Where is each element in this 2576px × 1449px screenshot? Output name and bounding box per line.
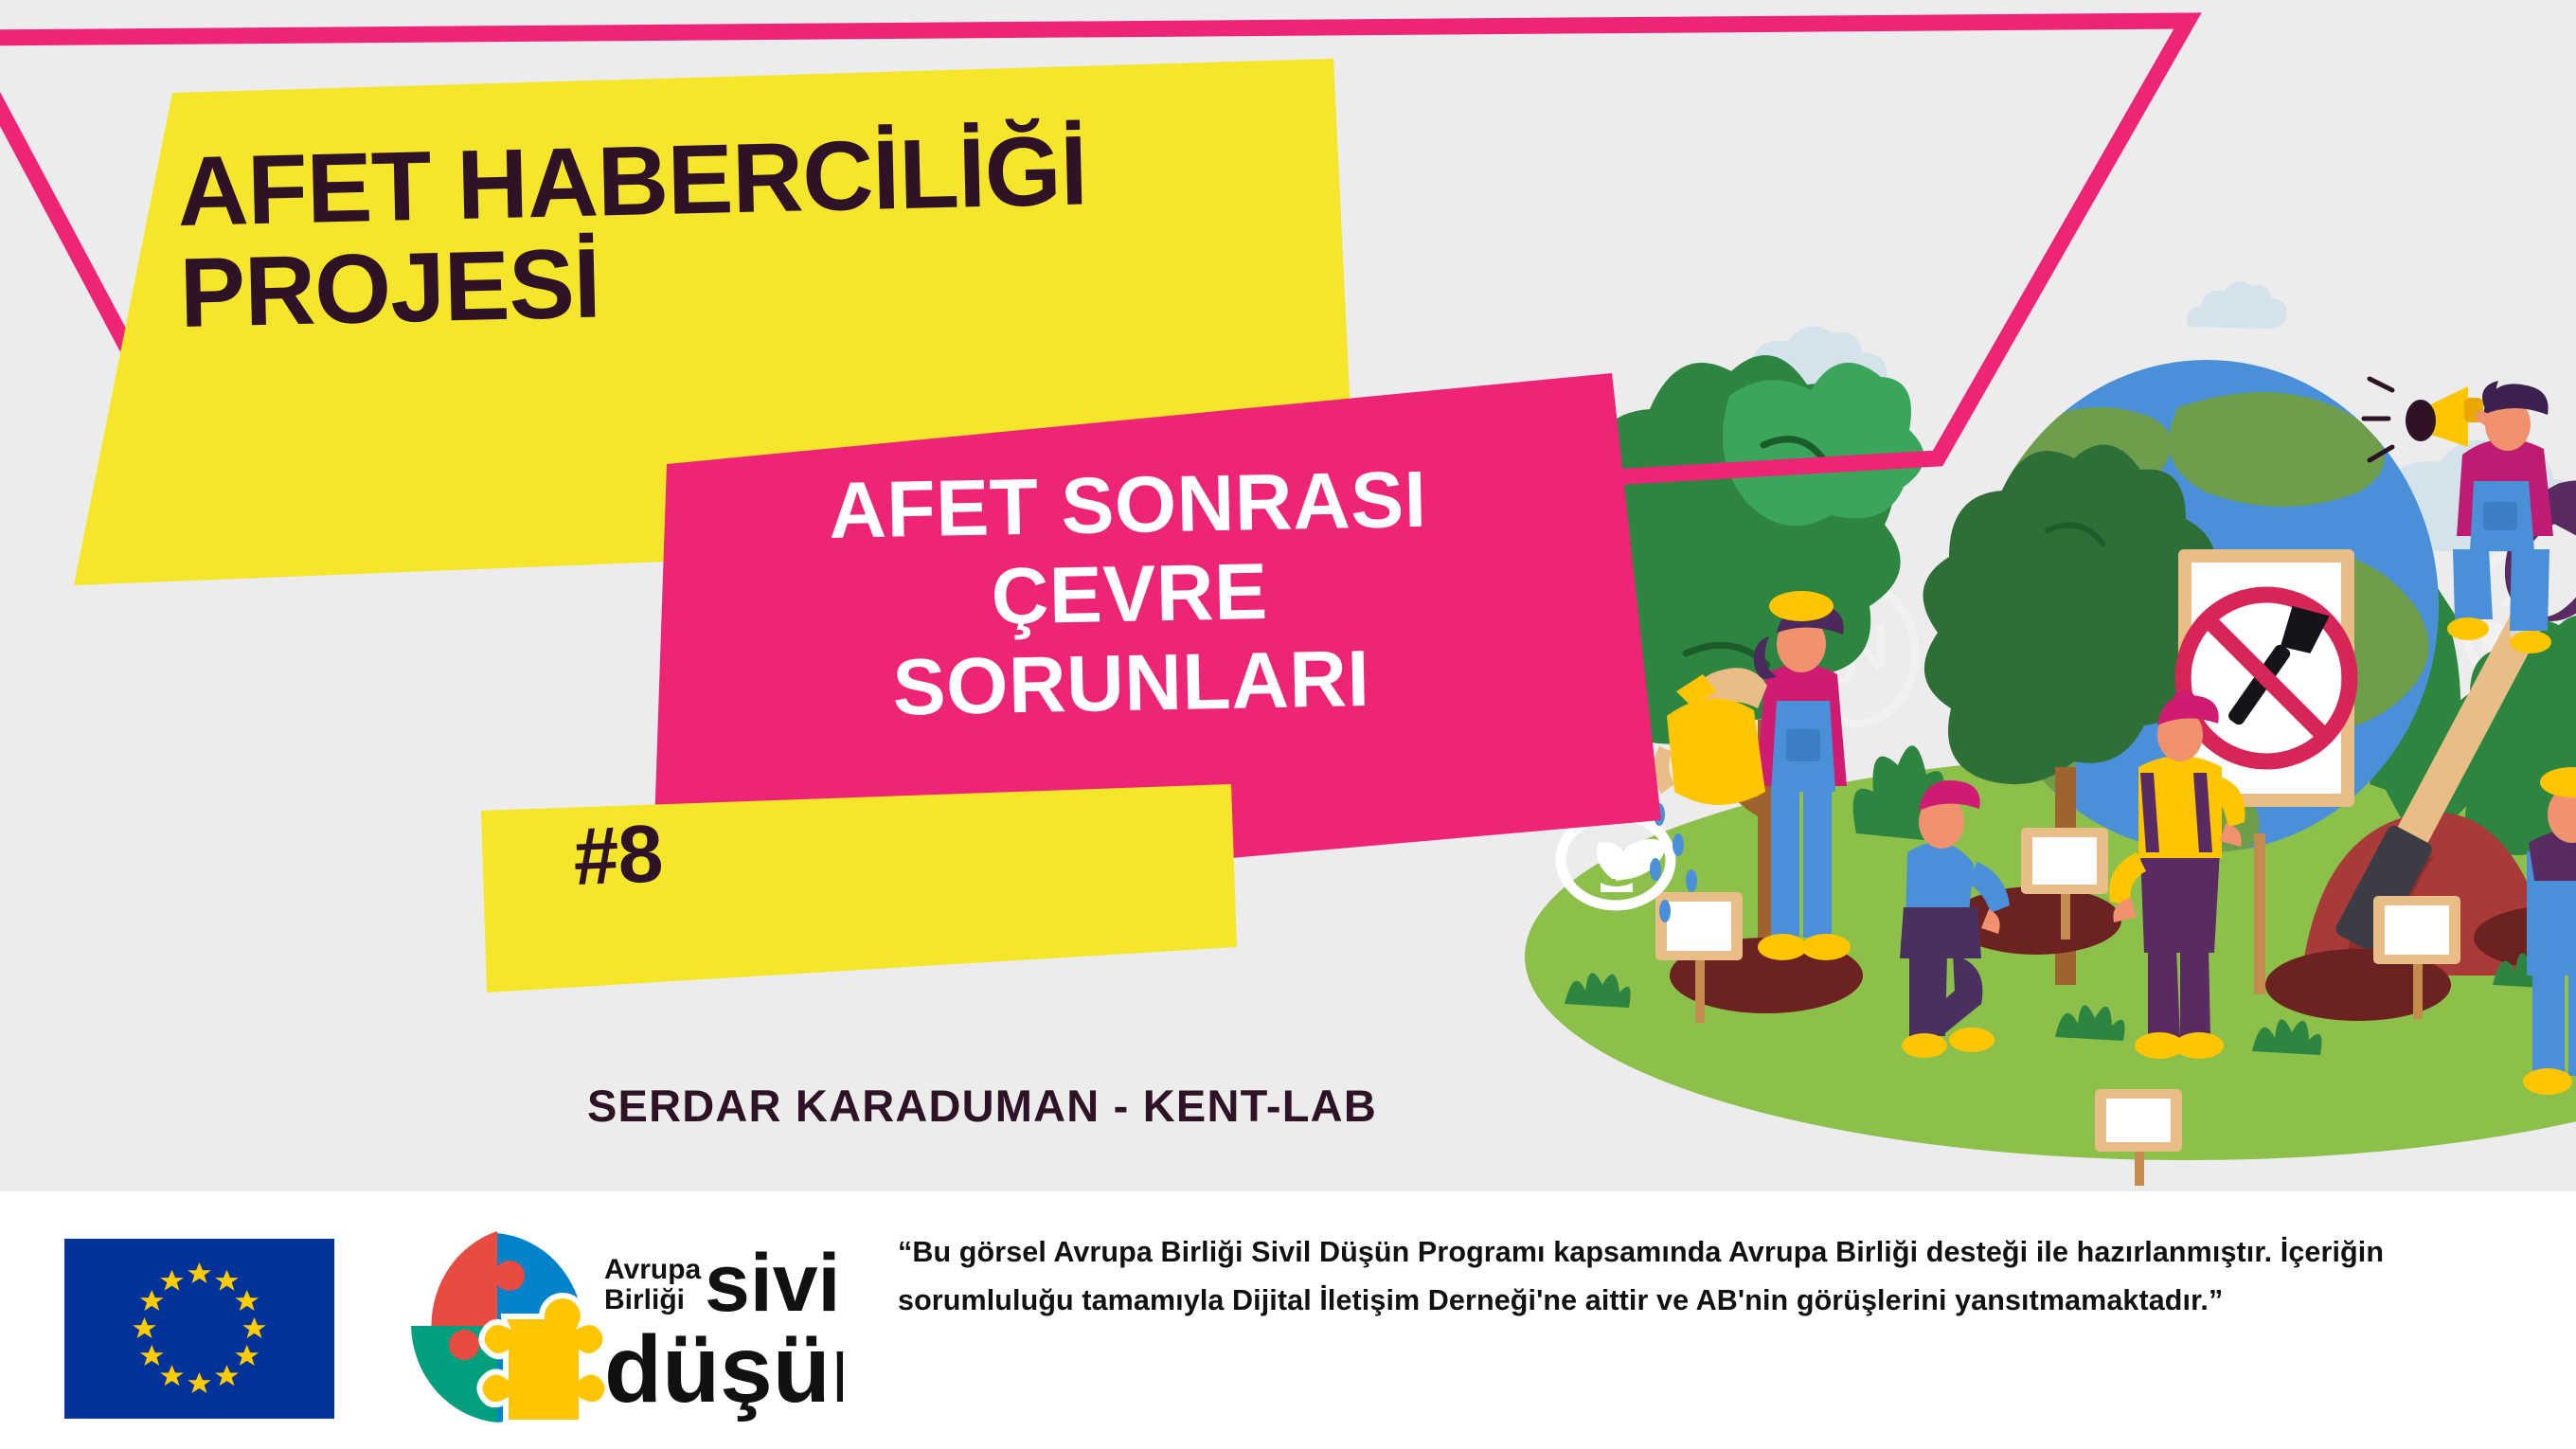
sivil-dusun-logo: Avrupa Birliği sivil düşün [398,1224,843,1427]
logo-birligi-label: Birliği [604,1284,685,1315]
eu-disclaimer-text: “Bu görsel Avrupa Birliği Sivil Düşün Pr… [898,1228,2527,1324]
puzzle-icon [411,1231,608,1422]
european-union-flag [64,1239,334,1419]
logo-avrupa-label: Avrupa [604,1254,702,1285]
page-title: AFET HABERCİLİĞİ PROJESİ [176,116,1298,345]
hero-section: UV O₂ [0,0,2576,1191]
issue-number-badge: #8 [572,813,664,898]
banner-subtitle: AFET SONRASI ÇEVRE SORUNLARI [672,452,1586,737]
poster-root: UV O₂ [0,0,2576,1449]
logo-dusun-label: düşün [604,1316,843,1422]
author-credit: SERDAR KARADUMAN - KENT-LAB [587,1080,1377,1132]
logo-sivil-label: sivil [705,1238,843,1329]
